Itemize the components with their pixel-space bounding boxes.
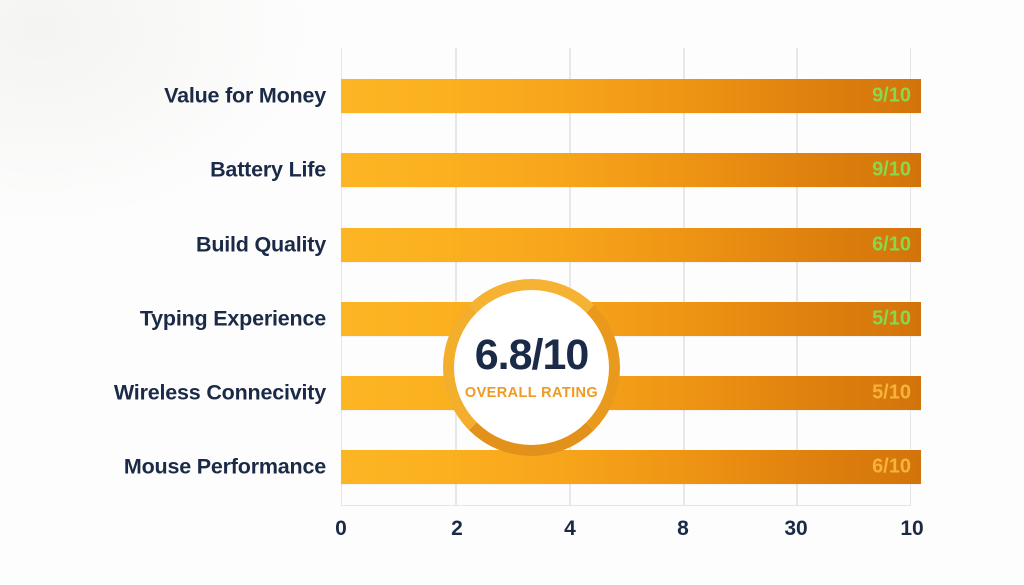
- gridline-0: [455, 48, 457, 505]
- category-label-mouse-performance: Mouse Performance: [6, 455, 326, 480]
- overall-rating-caption: OVERALL RATING: [465, 386, 598, 401]
- bar-battery-life[interactable]: 9/10: [341, 153, 921, 187]
- gridline-2: [683, 48, 685, 505]
- overall-rating-badge: 6.8/10 OVERALL RATING: [443, 279, 620, 456]
- bar-wireless-connecivity[interactable]: 5/10: [341, 376, 921, 410]
- bar-value-label: 5/10: [872, 382, 911, 405]
- bar-value-label: 6/10: [872, 456, 911, 479]
- bar-value-label: 9/10: [872, 159, 911, 182]
- category-label-build-quality: Build Quality: [6, 233, 326, 258]
- bar-value-label: 5/10: [872, 308, 911, 331]
- xtick-label-5: 10: [900, 517, 923, 541]
- gridline-3: [796, 48, 798, 505]
- bar-value-label: 6/10: [872, 234, 911, 257]
- bar-value-for-money[interactable]: 9/10: [341, 79, 921, 113]
- rating-chart-infographic: Value for Money Battery Life Build Quali…: [0, 0, 1024, 585]
- category-label-value-for-money: Value for Money: [6, 84, 326, 109]
- xtick-label-0: 0: [335, 517, 347, 541]
- xtick-label-4: 30: [784, 517, 807, 541]
- xtick-label-3: 8: [677, 517, 689, 541]
- category-label-battery-life: Battery Life: [6, 158, 326, 183]
- category-label-typing-experience: Typing Experience: [6, 307, 326, 332]
- plot-area: [341, 48, 911, 506]
- category-label-column: Value for Money Battery Life Build Quali…: [0, 0, 326, 585]
- bar-typing-experience[interactable]: 5/10: [341, 302, 921, 336]
- overall-rating-score: 6.8/10: [475, 334, 589, 377]
- bar-build-quality[interactable]: 6/10: [341, 228, 921, 262]
- bar-mouse-performance[interactable]: 6/10: [341, 450, 921, 484]
- bar-value-label: 9/10: [872, 85, 911, 108]
- xtick-label-2: 4: [564, 517, 576, 541]
- category-label-wireless-connecivity: Wireless Connecivity: [6, 381, 326, 406]
- xtick-label-1: 2: [451, 517, 463, 541]
